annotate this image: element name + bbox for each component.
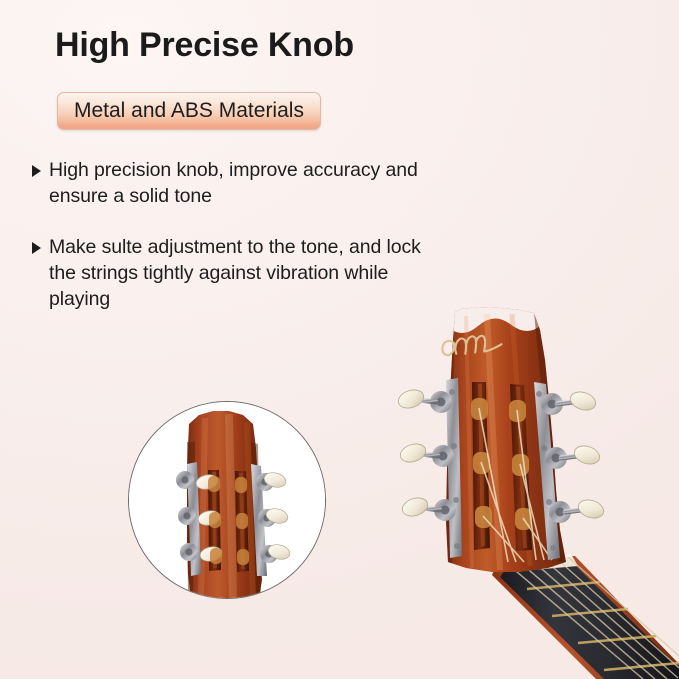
list-item: Make sulte adjustment to the tone, and l… [32, 235, 442, 312]
inset-headstock-illustration [129, 402, 325, 598]
materials-badge-label: Metal and ABS Materials [74, 99, 304, 123]
tuning-machines-right [534, 382, 606, 560]
headstock-body [441, 300, 566, 572]
feature-text: High precision knob, improve accuracy an… [49, 158, 442, 209]
list-item: High precision knob, improve accuracy an… [32, 158, 442, 209]
triangle-right-icon [32, 165, 41, 177]
tuning-machines-left [396, 378, 462, 558]
feature-list: High precision knob, improve accuracy an… [32, 158, 442, 339]
guitar-neck [492, 554, 679, 679]
materials-badge: Metal and ABS Materials [57, 92, 321, 130]
feature-text: Make sulte adjustment to the tone, and l… [49, 235, 442, 312]
brand-logo [441, 333, 502, 357]
page-title: High Precise Knob [55, 26, 354, 65]
triangle-right-icon [32, 242, 41, 254]
headstock-closeup-inset [128, 401, 326, 599]
product-feature-image: High Precise Knob Metal and ABS Material… [0, 0, 679, 679]
